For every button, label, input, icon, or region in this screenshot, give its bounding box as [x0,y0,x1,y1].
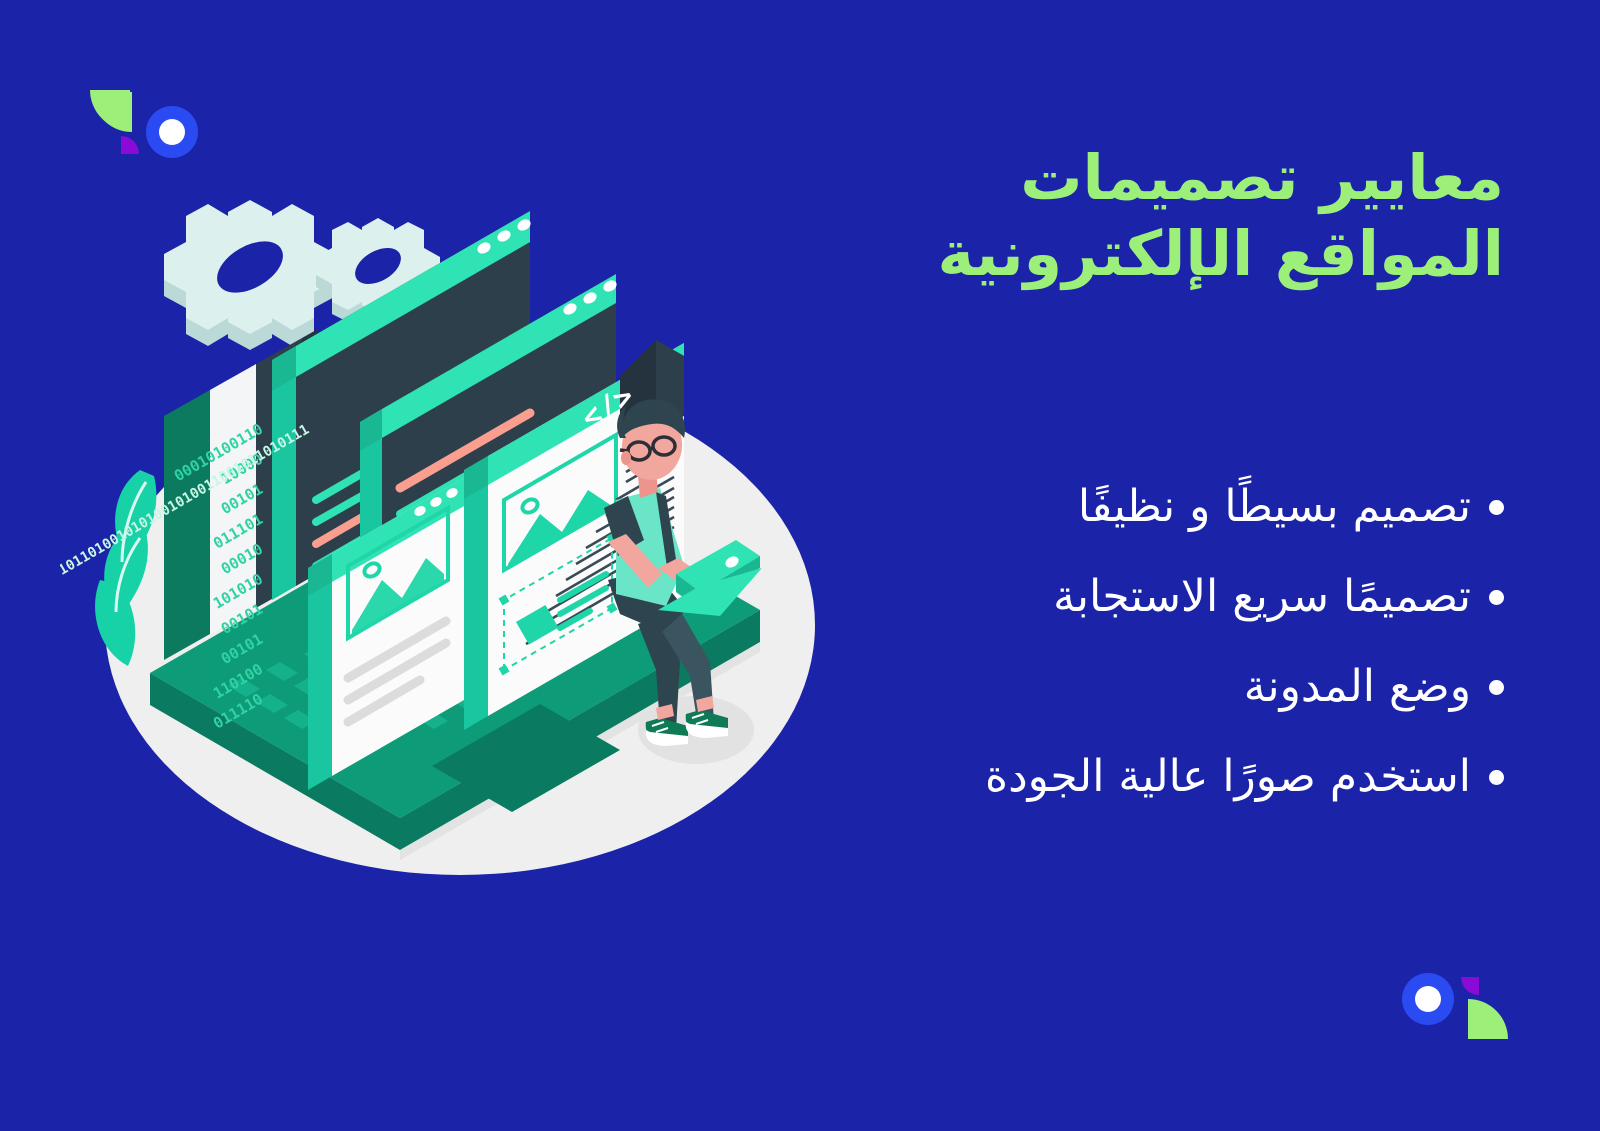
brand-mark-top-left [88,88,228,168]
white-dot-icon [1415,986,1441,1012]
page-title: معايير تصميمات المواقع الإلكترونية [864,140,1504,291]
purple-quarter-circle-icon [1461,977,1479,995]
purple-quarter-circle-icon [121,136,139,154]
list-item-label: وضع المدونة [1244,663,1471,711]
bullet-dot-icon [1489,770,1504,785]
brand-mark-bottom-right [1372,963,1512,1043]
headline-block: معايير تصميمات المواقع الإلكترونية [864,140,1504,291]
bullet-dot-icon [1489,590,1504,605]
white-dot-icon [159,119,185,145]
bullet-dot-icon [1489,680,1504,695]
list-item: تصميم بسيطًا و نظيفًا [844,462,1504,552]
list-item-label: تصميمًا سريع الاستجابة [1053,573,1471,621]
poster-canvas: معايير تصميمات المواقع الإلكترونية تصميم… [0,0,1600,1131]
list-item: تصميمًا سريع الاستجابة [844,552,1504,642]
list-item-label: تصميم بسيطًا و نظيفًا [1078,483,1471,531]
gear-large-icon [164,200,336,350]
bullet-dot-icon [1489,500,1504,515]
green-shape-icon [1468,999,1508,1039]
list-item: استخدم صورًا عالية الجودة [844,732,1504,822]
list-item: وضع المدونة [844,642,1504,732]
list-item-label: استخدم صورًا عالية الجودة [985,753,1471,801]
green-shape-icon [92,92,132,132]
isometric-web-design-illustration: 00010100110 10000 00101 011101 00010 101… [60,170,850,960]
feature-list: تصميم بسيطًا و نظيفًا تصميمًا سريع الاست… [844,462,1504,822]
